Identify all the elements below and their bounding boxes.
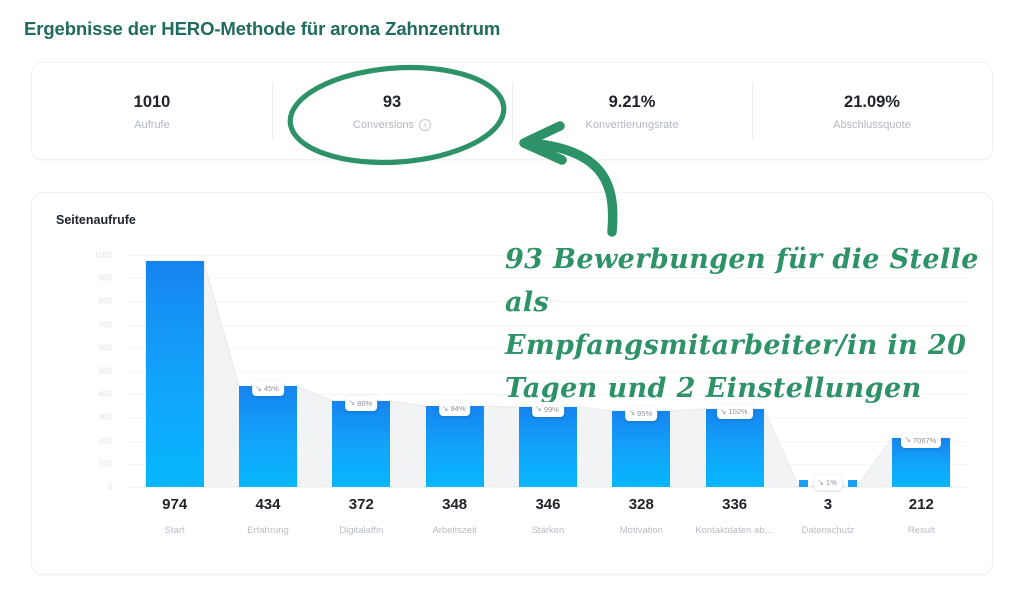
bar-column[interactable]: ↘1% [799,255,857,487]
bar-value-label: 328 [629,495,654,515]
info-icon[interactable] [419,119,431,131]
y-axis-tick: 900 [99,274,120,283]
x-axis-label-group: 212Result [875,495,968,553]
step-percent-value: 102% [728,407,747,416]
bar[interactable] [706,409,764,487]
chart-title: Seitenaufrufe [56,213,136,227]
bar-column[interactable]: ↘95% [612,255,670,487]
bar[interactable] [426,406,484,487]
bar-category-label: Datenschutz [802,525,855,537]
step-percent-badge: ↘94% [439,401,471,416]
step-percent-value: 95% [637,409,652,418]
step-percent-value: 99% [544,405,559,414]
stat-label-text: Conversions [353,118,414,132]
bar-value-label: 336 [722,495,747,515]
stat-label: Aufrufe [134,118,169,132]
bar-category-label: Motivation [620,525,663,537]
stat-label-text: Konvertierungsrate [586,118,679,132]
stat-konvertierungsrate[interactable]: 9.21% Konvertierungsrate [512,82,752,140]
step-percent-badge: ↘86% [345,396,377,411]
bar-column[interactable]: ↘7067% [892,255,950,487]
bar-value-label: 434 [255,495,280,515]
bar-category-label: Result [908,525,935,537]
step-percent-badge: ↘102% [717,404,753,419]
stat-label-text: Abschlussquote [833,118,911,132]
y-axis-tick: 700 [99,320,120,329]
bar-category-label: Stärken [532,525,565,537]
trend-down-arrow-icon: ↘ [442,405,449,413]
stat-conversions[interactable]: 93 Conversions [272,82,512,140]
bar-value-label: 346 [535,495,560,515]
trend-down-arrow-icon: ↘ [720,408,727,416]
bar[interactable] [848,480,857,487]
y-axis-tick: 400 [99,390,120,399]
trend-down-arrow-icon: ↘ [904,436,911,444]
bar-category-label: Digitalaffin [339,525,383,537]
stat-label: Conversions [353,118,431,132]
bar-column[interactable]: ↘94% [426,255,484,487]
bar[interactable] [519,407,577,487]
bar[interactable] [612,411,670,487]
y-axis-tick: 300 [99,413,120,422]
step-percent-badge: ↘99% [532,402,564,417]
step-percent-badge: ↘7067% [901,433,941,448]
bar-category-label: Erfahrung [247,525,289,537]
step-percent-badge: ↘1% [814,475,842,490]
stat-label: Abschlussquote [833,118,911,132]
step-percent-badge: ↘95% [625,406,657,421]
bar[interactable] [239,386,297,487]
trend-down-arrow-icon: ↘ [348,399,355,407]
x-axis-label-group: 434Erfahrung [221,495,314,553]
bar-value-label: 348 [442,495,467,515]
bar-value-label: 372 [349,495,374,515]
y-axis-tick: 500 [99,367,120,376]
trend-down-arrow-icon: ↘ [535,405,542,413]
bar-chart-plot: 01002003004005006007008009001000 ↘45%↘86… [96,255,968,487]
x-axis-label-group: 328Motivation [595,495,688,553]
step-percent-value: 94% [451,404,466,413]
x-axis-label-group: 3Datenschutz [781,495,874,553]
step-percent-value: 86% [357,399,372,408]
bar-column[interactable]: ↘86% [332,255,390,487]
x-axis-labels: 974Start434Erfahrung372Digitalaffin348Ar… [128,495,968,553]
bar-category-label: Start [165,525,185,537]
bar-column[interactable]: ↘45% [239,255,297,487]
x-axis-label-group: 372Digitalaffin [315,495,408,553]
step-percent-badge: ↘45% [252,381,284,396]
y-axis-tick: 100 [99,459,120,468]
step-percent-value: 45% [264,384,279,393]
stat-value: 93 [383,91,401,113]
summary-stats-card: 1010 Aufrufe 93 Conversions 9.21% Konver… [31,62,993,160]
y-axis-tick: 200 [99,436,120,445]
y-axis-tick: 800 [99,297,120,306]
y-axis-tick: 0 [108,483,120,492]
bar[interactable] [146,261,204,487]
trend-down-arrow-icon: ↘ [628,409,635,417]
x-axis-label-group: 336Kontaktdaten ab… [688,495,781,553]
bar-column[interactable] [146,255,204,487]
bar-category-label: Kontaktdaten ab… [695,525,774,537]
stat-abschlussquote[interactable]: 21.09% Abschlussquote [752,82,992,140]
page-title: Ergebnisse der HERO-Methode für arona Za… [24,18,500,40]
step-percent-value: 1% [826,478,837,487]
bar-value-label: 212 [909,495,934,515]
report-page: Ergebnisse der HERO-Methode für arona Za… [0,0,1024,597]
stat-aufrufe[interactable]: 1010 Aufrufe [32,82,272,140]
x-axis-label-group: 974Start [128,495,221,553]
trend-down-arrow-icon: ↘ [255,385,262,393]
step-percent-value: 7067% [913,436,936,445]
stat-value: 21.09% [844,91,900,113]
chart-card: Seitenaufrufe 01002003004005006007008009… [31,192,993,575]
bar-column[interactable]: ↘99% [519,255,577,487]
bar[interactable] [332,401,390,487]
stat-value: 9.21% [609,91,656,113]
stat-label-text: Aufrufe [134,118,169,132]
bar-column[interactable]: ↘102% [706,255,764,487]
y-axis-tick: 1000 [94,251,120,260]
bar-series: ↘45%↘86%↘94%↘99%↘95%↘102%↘1%↘7067% [128,255,968,487]
bar-category-label: Arbeitszeit [432,525,476,537]
y-axis-tick: 600 [99,343,120,352]
bar[interactable] [799,480,808,487]
stat-label: Konvertierungsrate [586,118,679,132]
stat-value: 1010 [134,91,171,113]
x-axis-label-group: 348Arbeitszeit [408,495,501,553]
trend-down-arrow-icon: ↘ [817,479,824,487]
bar-value-label: 974 [162,495,187,515]
x-axis-label-group: 346Stärken [501,495,594,553]
gridline [128,487,968,488]
bar-value-label: 3 [824,495,832,515]
